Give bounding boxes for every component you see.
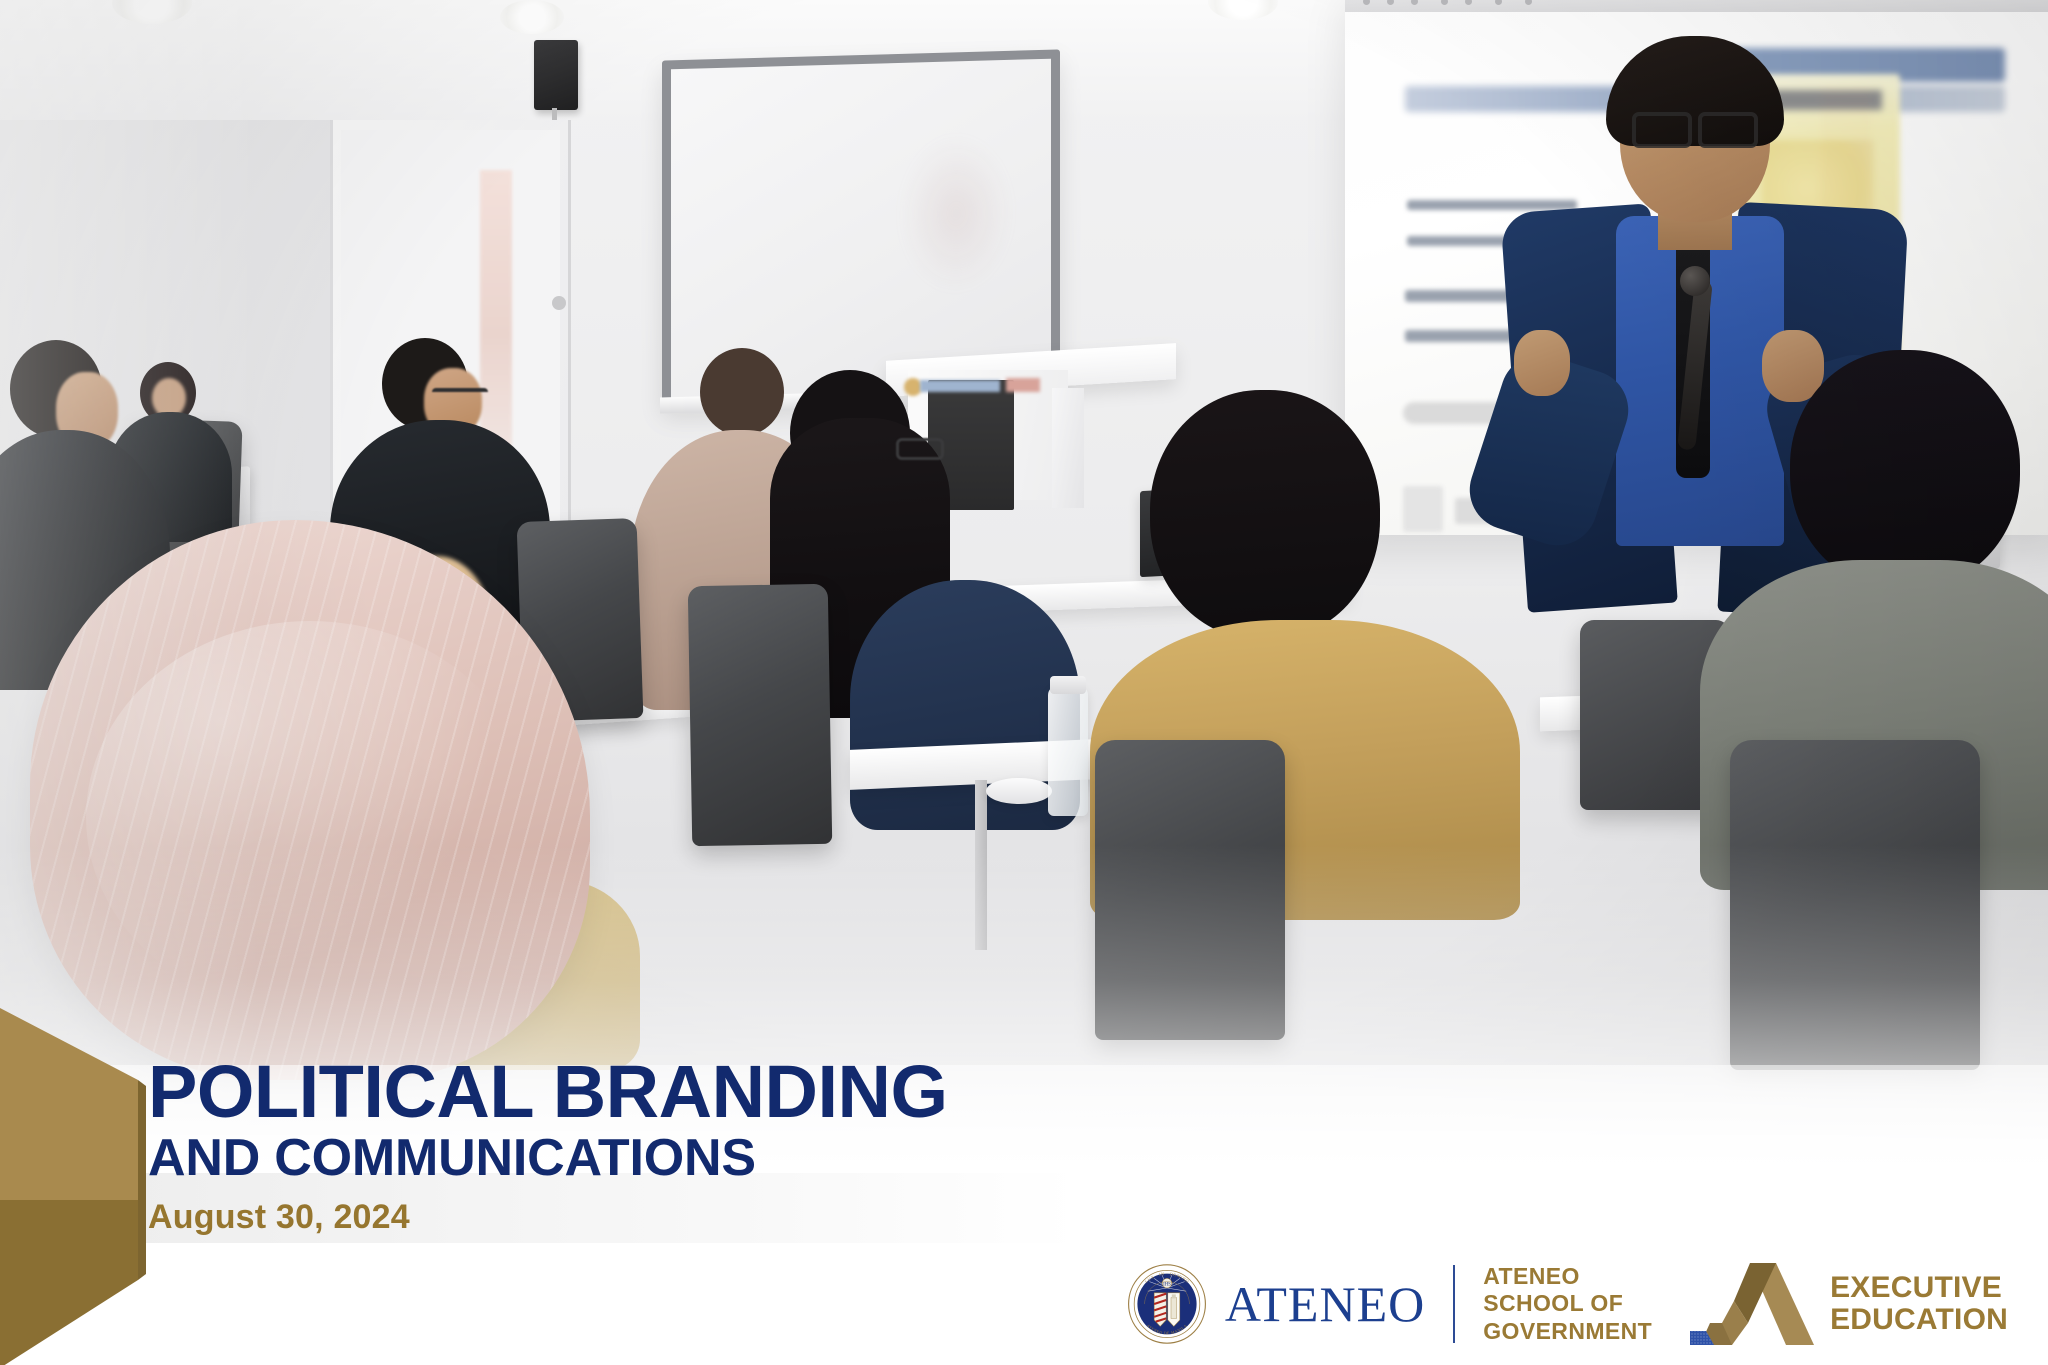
logo-divider (1453, 1265, 1455, 1343)
asog-line-3: GOVERNMENT (1483, 1318, 1652, 1345)
presentation-slide: POLITICAL BRANDING AND COMMUNICATIONS Au… (0, 0, 2048, 1365)
page-subtitle: AND COMMUNICATIONS (148, 1131, 948, 1186)
ateneo-school-of-government-wordmark: ATENEO SCHOOL OF GOVERNMENT (1483, 1263, 1652, 1344)
ateneo-de-manila-seal-icon: IHS LUX · IN · DOMINO (1127, 1264, 1207, 1344)
asog-line-2: SCHOOL OF (1483, 1290, 1652, 1317)
svg-text:IHS: IHS (1163, 1283, 1171, 1288)
executive-education-wordmark: EXECUTIVE EDUCATION (1830, 1272, 2008, 1337)
ateneo-wordmark: ATENEO (1225, 1279, 1425, 1329)
exed-line-2: EDUCATION (1830, 1304, 2008, 1336)
ateneo-lockup: IHS LUX · IN · DOMINO (1127, 1264, 1425, 1344)
title-block: POLITICAL BRANDING AND COMMUNICATIONS Au… (148, 1057, 948, 1237)
page-title: POLITICAL BRANDING (148, 1057, 948, 1127)
logo-bar: IHS LUX · IN · DOMINO (1127, 1261, 2008, 1347)
event-date: August 30, 2024 (148, 1198, 948, 1237)
executive-education-lockup: EXECUTIVE EDUCATION (1688, 1261, 2008, 1347)
executive-education-a-mark-icon (1688, 1261, 1814, 1347)
exed-line-1: EXECUTIVE (1830, 1272, 2008, 1304)
asog-line-1: ATENEO (1483, 1263, 1652, 1290)
